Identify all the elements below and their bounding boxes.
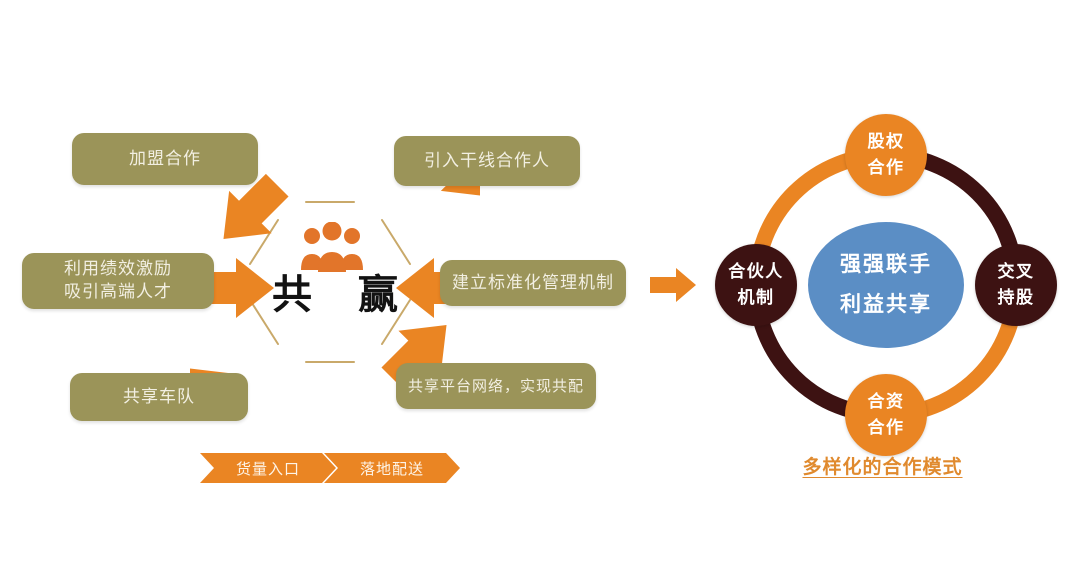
center-keyword: 共 赢 — [240, 262, 430, 320]
ribbon-last-mile-delivery[interactable]: 落地配送 — [324, 453, 460, 483]
node-partner-line-1: 合伙人 — [728, 259, 784, 285]
node-cross-line-1: 交叉 — [998, 259, 1035, 285]
node-joint-line-2: 合作 — [868, 415, 905, 441]
core-line-1: 强强联手 — [840, 245, 932, 285]
box-standard-management[interactable]: 建立标准化管理机制 — [440, 260, 626, 306]
node-equity-cooperation[interactable]: 股权 合作 — [845, 114, 927, 196]
box-shared-platform[interactable]: 共享平台网络，实现共配 — [396, 363, 596, 409]
core-line-2: 利益共享 — [840, 285, 932, 325]
node-equity-line-1: 股权 — [868, 129, 905, 155]
ring-caption: 多样化的合作模式 — [770, 452, 995, 479]
box-join-cooperation[interactable]: 加盟合作 — [72, 133, 258, 185]
ribbon-cargo-entry[interactable]: 货量入口 — [200, 453, 336, 483]
box-trunk-line-partner[interactable]: 引入干线合作人 — [394, 136, 580, 186]
node-partner-mechanism[interactable]: 合伙人 机制 — [715, 244, 797, 326]
node-cross-shareholding[interactable]: 交叉 持股 — [975, 244, 1057, 326]
node-joint-venture[interactable]: 合资 合作 — [845, 374, 927, 456]
node-cross-line-2: 持股 — [998, 285, 1035, 311]
node-joint-line-1: 合资 — [868, 389, 905, 415]
node-partner-line-2: 机制 — [738, 285, 775, 311]
core-label: 强强联手 利益共享 — [808, 222, 964, 348]
cooperation-ring-diagram: 强强联手 利益共享 股权 合作 交叉 持股 合资 合作 合伙人 机制 — [706, 110, 1066, 460]
node-equity-line-2: 合作 — [868, 155, 905, 181]
right-arrow-icon — [650, 268, 696, 302]
box-performance-incentive[interactable]: 利用绩效激励 吸引高端人才 — [22, 253, 214, 309]
box-shared-fleet[interactable]: 共享车队 — [70, 373, 248, 421]
slide-canvas: 共 赢 加盟合作 引入干线合作人 利用绩效激励 吸引高端人才 建立标准化管理机制… — [0, 0, 1080, 568]
ribbon-flow: 货量入口 落地配送 — [200, 453, 460, 483]
